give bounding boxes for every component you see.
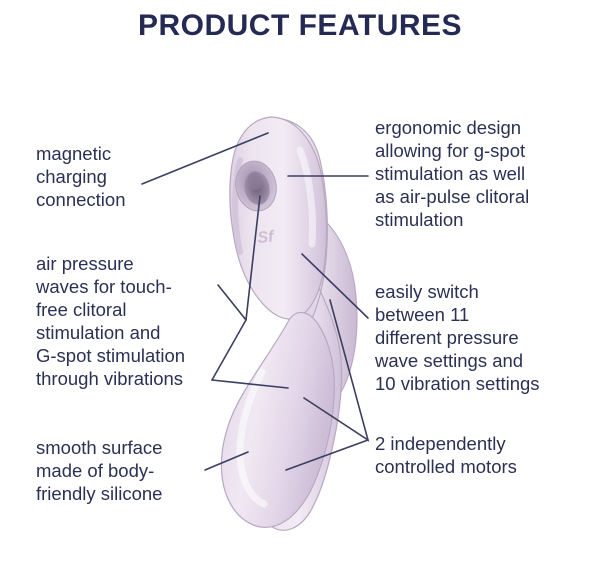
- callout-magnetic-charging: magnetic charging connection: [36, 142, 226, 211]
- infographic-canvas: PRODUCT FEATURES: [0, 0, 600, 574]
- callout-air-pressure: air pressure waves for touch- free clito…: [36, 252, 246, 390]
- callout-pressure-settings: easily switch between 11 different press…: [375, 280, 595, 395]
- callout-smooth-surface: smooth surface made of body- friendly si…: [36, 436, 236, 505]
- callout-ergonomic-design: ergonomic design allowing for g-spot sti…: [375, 116, 590, 231]
- callout-controlled-motors: 2 independently controlled motors: [375, 432, 590, 478]
